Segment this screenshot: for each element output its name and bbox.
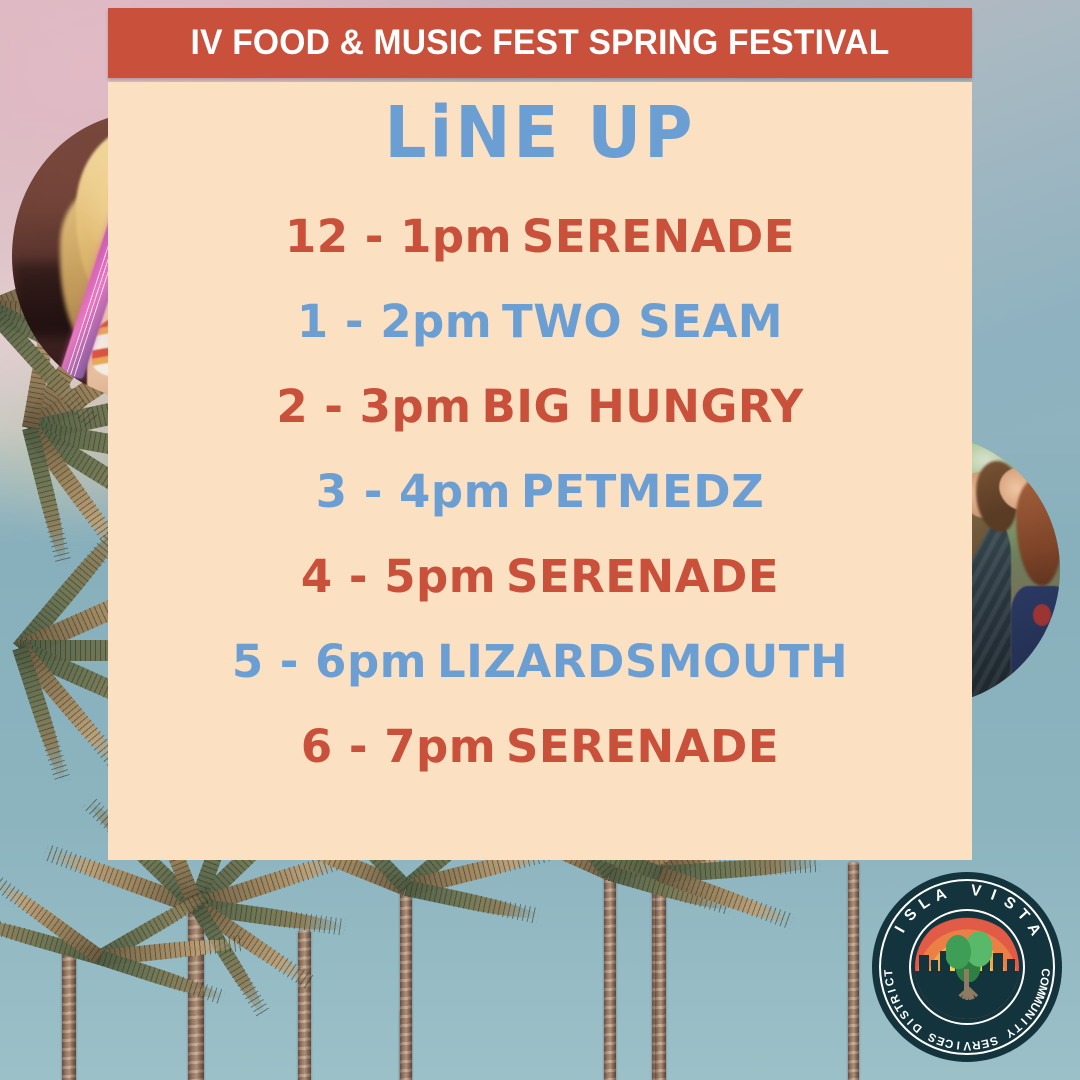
lineup-time: 4 - 5pm bbox=[301, 550, 496, 603]
isla-vista-logo: ISLA VISTA COMMUNITY SERVICES DISTRICT bbox=[872, 872, 1062, 1062]
palm-trunk bbox=[62, 940, 76, 1080]
lineup-artist: SERENADE bbox=[506, 720, 779, 773]
lineup-row: 2 - 3pmBIG HUNGRY bbox=[108, 364, 972, 449]
lineup-time: 3 - 4pm bbox=[316, 465, 511, 518]
palm-trunk bbox=[848, 862, 859, 1080]
lineup-artist: SERENADE bbox=[522, 210, 795, 263]
lineup-row: 6 - 7pmSERENADE bbox=[108, 704, 972, 789]
lineup-artist: SERENADE bbox=[506, 550, 779, 603]
lineup-time: 5 - 6pm bbox=[232, 635, 427, 688]
page-title: IV FOOD & MUSIC FEST SPRING FESTIVAL bbox=[191, 23, 890, 63]
lineup-time: 6 - 7pm bbox=[301, 720, 496, 773]
lineup-artist: LIZARDSMOUTH bbox=[437, 635, 848, 688]
lineup-row: 12 - 1pmSERENADE bbox=[108, 194, 972, 279]
lineup-time: 12 - 1pm bbox=[285, 210, 512, 263]
lineup-row: 5 - 6pmLIZARDSMOUTH bbox=[108, 619, 972, 704]
lineup-row: 4 - 5pmSERENADE bbox=[108, 534, 972, 619]
lineup-heading: LiNE UP bbox=[108, 91, 972, 174]
festival-lineup-poster: IV FOOD & MUSIC FEST SPRING FESTIVAL LiN… bbox=[0, 0, 1080, 1080]
lineup-list: 12 - 1pmSERENADE1 - 2pmTWO SEAM2 - 3pmBI… bbox=[108, 194, 972, 789]
lineup-row: 1 - 2pmTWO SEAM bbox=[108, 279, 972, 364]
badge-text-csd: COMMUNITY SERVICES DISTRICT bbox=[872, 872, 1062, 1062]
lineup-time: 2 - 3pm bbox=[276, 380, 471, 433]
lineup-artist: PETMEDZ bbox=[521, 465, 764, 518]
palm-trunk bbox=[400, 880, 412, 1080]
lineup-artist: TWO SEAM bbox=[502, 295, 783, 348]
lineup-panel: LiNE UP 12 - 1pmSERENADE1 - 2pmTWO SEAM2… bbox=[108, 82, 972, 860]
lineup-row: 3 - 4pmPETMEDZ bbox=[108, 449, 972, 534]
palm-trunk bbox=[604, 862, 616, 1080]
lineup-time: 1 - 2pm bbox=[297, 295, 492, 348]
lineup-artist: BIG HUNGRY bbox=[481, 380, 803, 433]
header-banner: IV FOOD & MUSIC FEST SPRING FESTIVAL bbox=[108, 8, 972, 78]
palm-trunk bbox=[298, 930, 311, 1080]
